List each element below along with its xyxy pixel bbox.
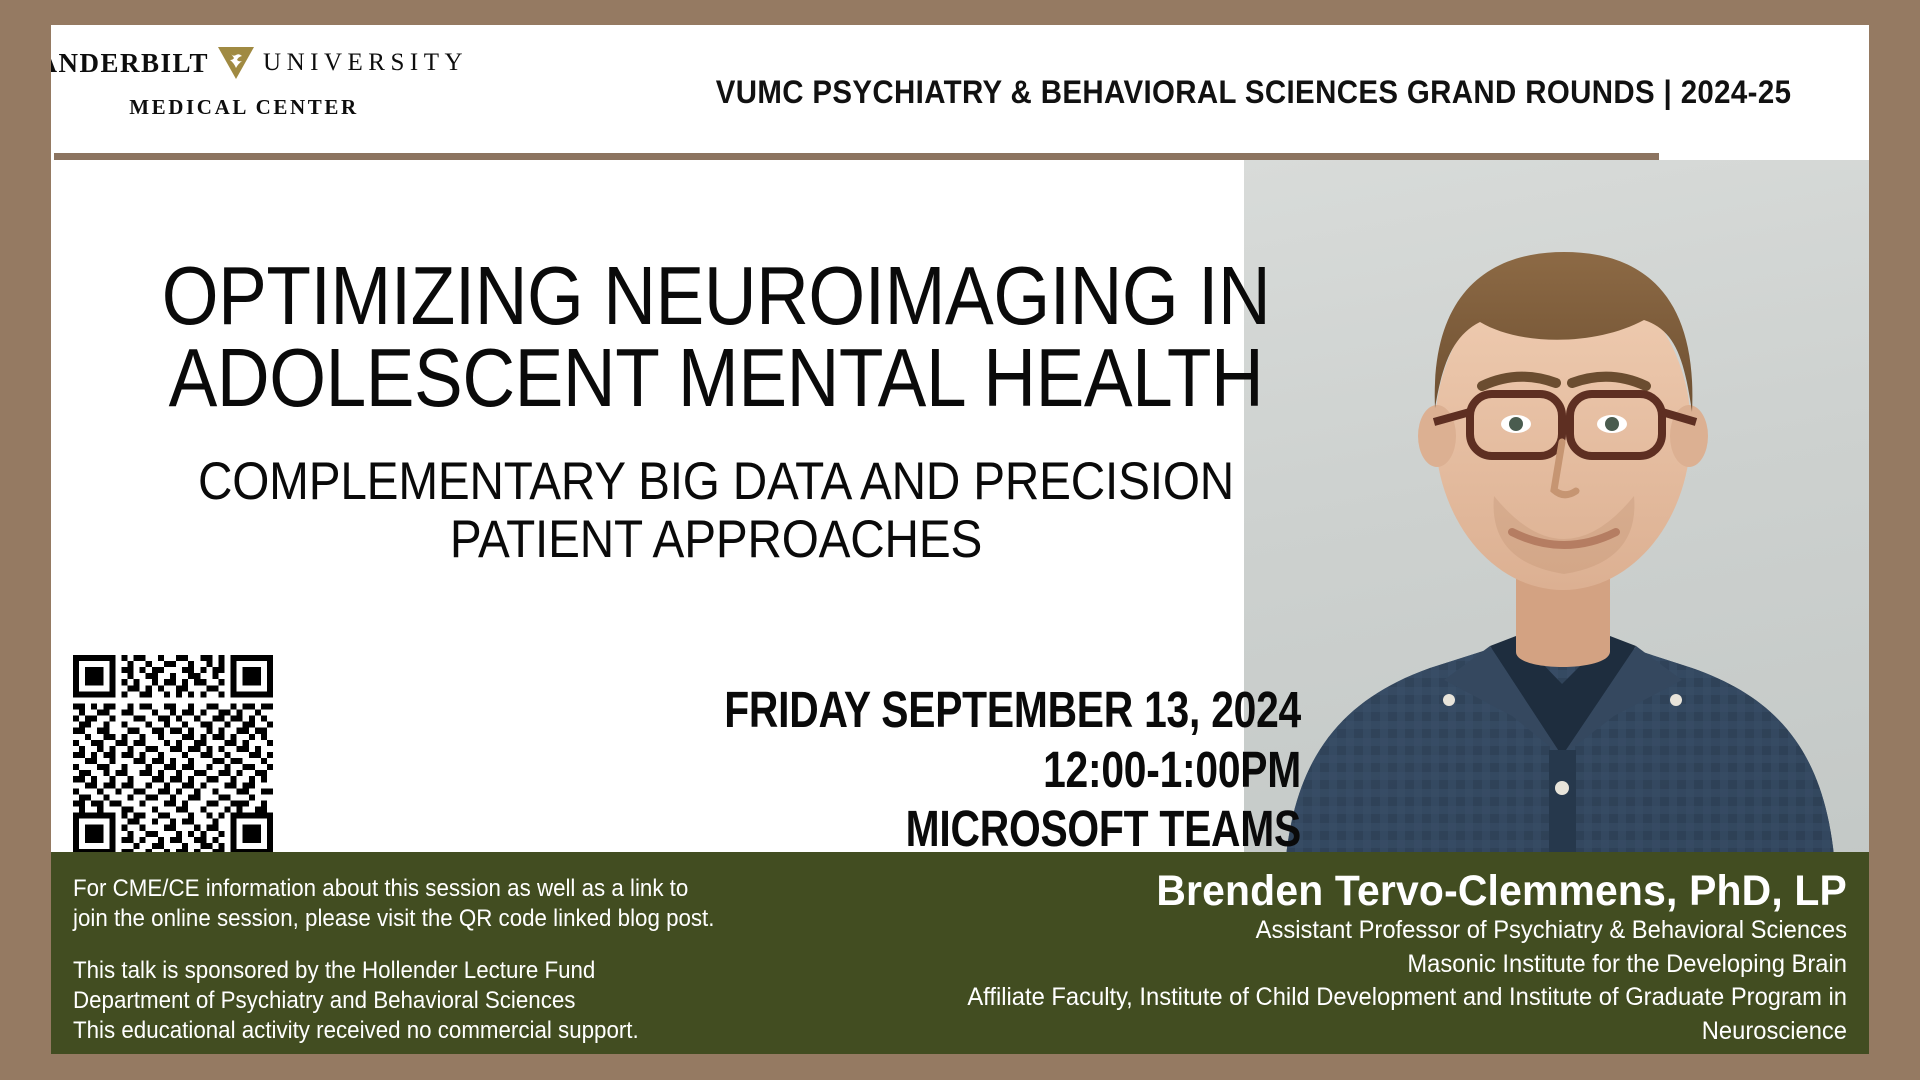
speaker-title-1: Assistant Professor of Psychiatry & Beha… <box>863 914 1847 948</box>
talk-title-block: OPTIMIZING NEUROIMAGING IN ADOLESCENT ME… <box>71 255 1361 568</box>
footer-bar: For CME/CE information about this sessio… <box>51 852 1869 1054</box>
logo-primary-line: VANDERBILT UNIVERSITY <box>54 45 434 81</box>
logo-word-university: UNIVERSITY <box>263 49 468 77</box>
talk-title-line-1: OPTIMIZING NEUROIMAGING IN <box>148 255 1283 337</box>
speaker-title-2: Masonic Institute for the Developing Bra… <box>863 948 1847 982</box>
series-title: VUMC PSYCHIATRY & BEHAVIORAL SCIENCES GR… <box>699 74 1808 111</box>
speaker-info-block: Brenden Tervo-Clemmens, PhD, LP Assistan… <box>811 852 1869 1054</box>
logo-secondary-line: MEDICAL CENTER <box>54 95 434 120</box>
event-details: FRIDAY SEPTEMBER 13, 2024 12:00-1:00PM M… <box>351 680 1301 859</box>
cme-info-block: For CME/CE information about this sessio… <box>51 852 811 1054</box>
qr-code[interactable] <box>73 655 273 855</box>
event-time: 12:00-1:00PM <box>541 740 1301 800</box>
logo-word-vanderbilt: VANDERBILT <box>51 48 209 79</box>
sponsor-line-3: This educational activity received no co… <box>73 1016 759 1046</box>
header-divider <box>54 153 1659 160</box>
event-date: FRIDAY SEPTEMBER 13, 2024 <box>541 680 1301 740</box>
grand-rounds-poster: VANDERBILT UNIVERSITY MEDICAL CENTER VUM… <box>0 0 1920 1080</box>
sponsor-line-1: This talk is sponsored by the Hollender … <box>73 956 759 986</box>
vanderbilt-v-icon <box>216 45 256 81</box>
talk-subtitle-line-1: COMPLEMENTARY BIG DATA AND PRECISION <box>136 453 1297 510</box>
cme-line-1: For CME/CE information about this sessio… <box>73 874 759 904</box>
poster-canvas: VANDERBILT UNIVERSITY MEDICAL CENTER VUM… <box>51 25 1869 1054</box>
talk-title-line-2: ADOLESCENT MENTAL HEALTH <box>148 337 1283 419</box>
speaker-title-3: Affiliate Faculty, Institute of Child De… <box>863 981 1847 1048</box>
speaker-name: Brenden Tervo-Clemmens, PhD, LP <box>863 868 1847 914</box>
talk-subtitle-line-2: PATIENT APPROACHES <box>136 511 1297 568</box>
speaker-affiliation: University of Minnesota <box>863 1048 1847 1054</box>
cme-line-2: join the online session, please visit th… <box>73 904 759 934</box>
vanderbilt-logo: VANDERBILT UNIVERSITY MEDICAL CENTER <box>54 45 434 120</box>
sponsor-line-2: Department of Psychiatry and Behavioral … <box>73 986 759 1016</box>
event-location: MICROSOFT TEAMS <box>541 799 1301 859</box>
cme-spacer <box>73 934 811 956</box>
